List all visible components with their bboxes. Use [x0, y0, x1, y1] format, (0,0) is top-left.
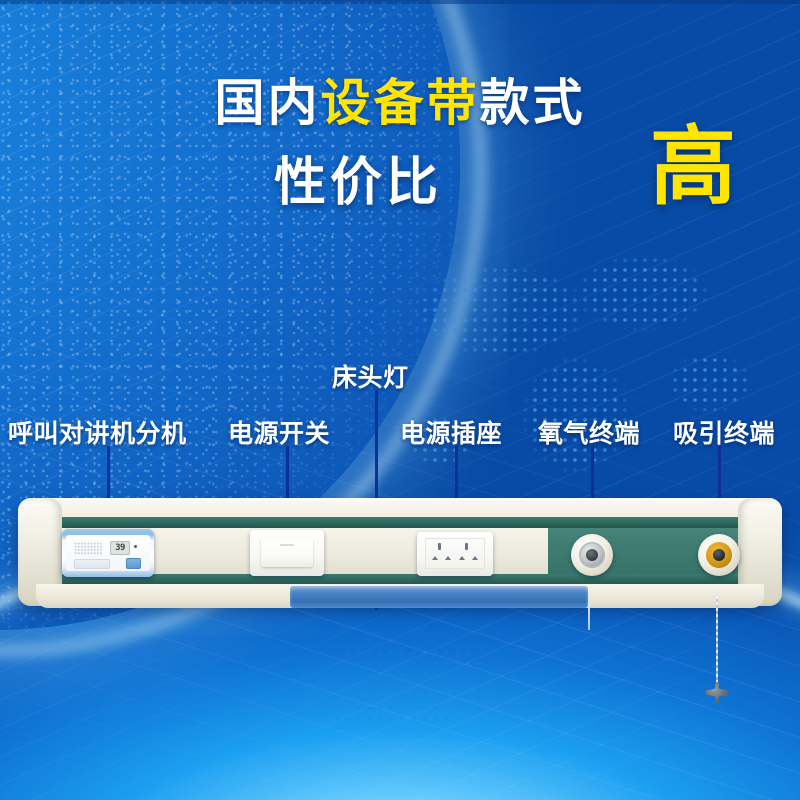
socket-pin-icon — [432, 556, 438, 560]
switch-mark-icon — [280, 544, 294, 546]
callout-label-power-switch: 电源开关 — [228, 414, 330, 450]
socket-plate — [425, 538, 485, 569]
power-switch[interactable] — [250, 530, 324, 576]
oxygen-terminal-cord — [588, 596, 590, 630]
intercom-display: 39 — [110, 541, 130, 555]
socket-pin-icon — [472, 556, 478, 560]
callout-layer: 呼叫对讲机分机 电源开关 床头灯 电源插座 氧气终端 吸引终端 — [0, 0, 800, 800]
intercom-slot — [74, 559, 110, 569]
terminal-inner-ring-oxygen — [579, 542, 605, 568]
callout-label-suction-terminal: 吸引终端 — [673, 414, 775, 450]
suction-terminal-cord — [716, 596, 718, 692]
callout-label-bedside-lamp: 床头灯 — [332, 358, 409, 394]
poster-canvas: 国内设备带款式 性价比 高 呼叫对讲机分机 电源开关 床头灯 电源插座 氧气终端… — [0, 0, 800, 800]
socket-pin-icon — [465, 543, 468, 550]
intercom-face: 39 — [66, 535, 150, 571]
callout-label-intercom: 呼叫对讲机分机 — [8, 414, 187, 450]
terminal-inner-ring-suction — [706, 542, 732, 568]
suction-terminal[interactable] — [698, 534, 740, 576]
status-led-icon — [134, 545, 137, 548]
power-socket[interactable] — [417, 532, 493, 576]
socket-pin-icon — [438, 543, 441, 550]
intercom-call-button[interactable] — [126, 558, 141, 569]
switch-rocker[interactable] — [261, 538, 313, 567]
terminal-port-icon — [586, 549, 598, 561]
callout-label-oxygen-terminal: 氧气终端 — [538, 414, 640, 450]
oxygen-terminal[interactable] — [571, 534, 613, 576]
terminal-port-icon — [713, 549, 725, 561]
speaker-grille-icon — [74, 542, 102, 555]
callout-label-power-socket: 电源插座 — [400, 414, 502, 450]
socket-pin-icon — [459, 556, 465, 560]
nurse-call-intercom-extension[interactable]: 39 — [62, 529, 154, 577]
socket-pin-icon — [445, 556, 451, 560]
panel-rail-glass-section — [290, 586, 588, 608]
panel-stripe-top — [58, 517, 742, 528]
